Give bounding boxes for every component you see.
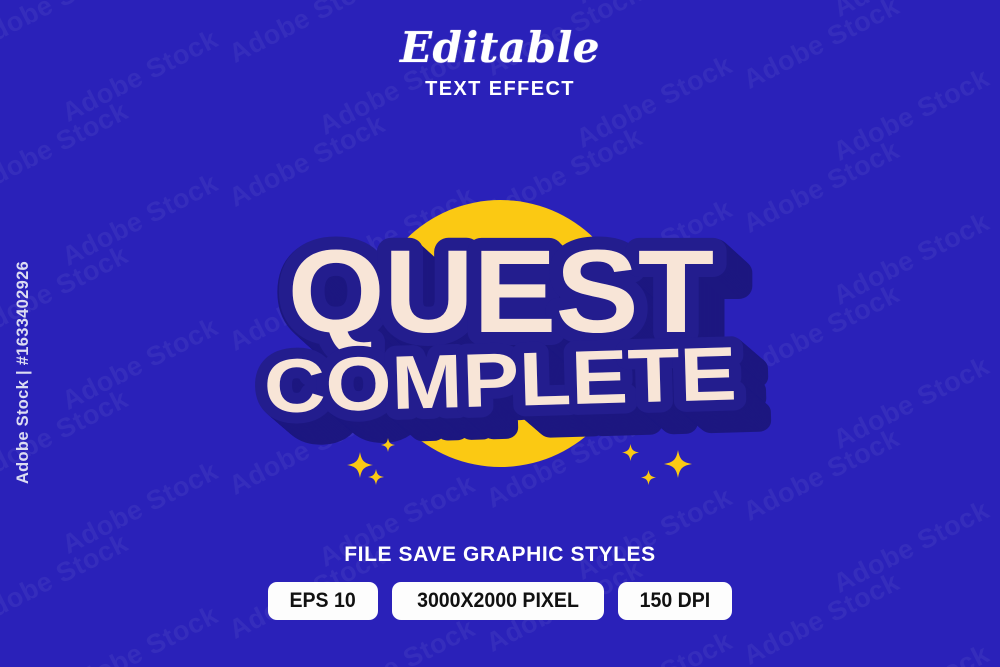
badge-label: 3000X2000 PIXEL — [417, 589, 579, 613]
text-effect-subtitle: TEXT EFFECT — [0, 78, 1000, 101]
sparkle-right-large-icon — [664, 450, 692, 478]
yellow-circle-backdrop — [367, 200, 634, 467]
watermark-text: Adobe Stock — [224, 253, 390, 357]
badge-eps[interactable]: EPS 10 — [268, 582, 377, 620]
watermark-text: Adobe Stock — [995, 148, 1000, 252]
footer-title: FILE SAVE GRAPHIC STYLES — [0, 543, 1000, 567]
stock-credit: Adobe Stock | #1633402926 — [2, 0, 46, 667]
sparkle-left-mid-icon — [368, 469, 384, 485]
editable-script-title: Editable — [0, 26, 1000, 70]
watermark-text: Adobe Stock — [571, 0, 737, 10]
badge-label: 150 DPI — [639, 589, 710, 613]
footer: FILE SAVE GRAPHIC STYLES EPS 103000X2000… — [0, 543, 1000, 620]
watermark-text: Adobe Stock — [828, 0, 994, 23]
watermark-text: Adobe Stock — [828, 207, 994, 311]
sparkle-right-small-icon — [622, 444, 639, 461]
watermark-text: Adobe Stock — [57, 312, 223, 416]
watermark-text: Adobe Stock — [224, 109, 390, 213]
badge-dimensions[interactable]: 3000X2000 PIXEL — [392, 582, 604, 620]
sparkle-right-mid-icon — [641, 470, 656, 485]
watermark-text: Adobe Stock — [828, 639, 994, 667]
badge-dpi[interactable]: 150 DPI — [618, 582, 732, 620]
watermark-text: Adobe Stock — [738, 279, 904, 383]
watermark-text: Adobe Stock — [995, 436, 1000, 540]
poster-canvas: Adobe StockAdobe StockAdobe StockAdobe S… — [0, 0, 1000, 667]
watermark-text: Adobe Stock — [828, 351, 994, 455]
watermark-text: Adobe Stock — [314, 613, 480, 667]
watermark-text: Adobe Stock — [571, 626, 737, 667]
badge-label: EPS 10 — [290, 589, 356, 613]
watermark-text: Adobe Stock — [224, 397, 390, 501]
header: Editable TEXT EFFECT — [0, 26, 1000, 101]
watermark-row: Adobe StockAdobe StockAdobe StockAdobe S… — [0, 631, 1000, 667]
watermark-text: Adobe Stock — [995, 292, 1000, 396]
badge-row: EPS 103000X2000 PIXEL150 DPI — [0, 582, 1000, 620]
watermark-text: Adobe Stock — [738, 135, 904, 239]
stock-credit-text: Adobe Stock | #1633402926 — [15, 261, 34, 484]
watermark-text: Adobe Stock — [57, 168, 223, 272]
sparkle-left-small-icon — [381, 438, 395, 452]
watermark-text: Adobe Stock — [738, 423, 904, 527]
